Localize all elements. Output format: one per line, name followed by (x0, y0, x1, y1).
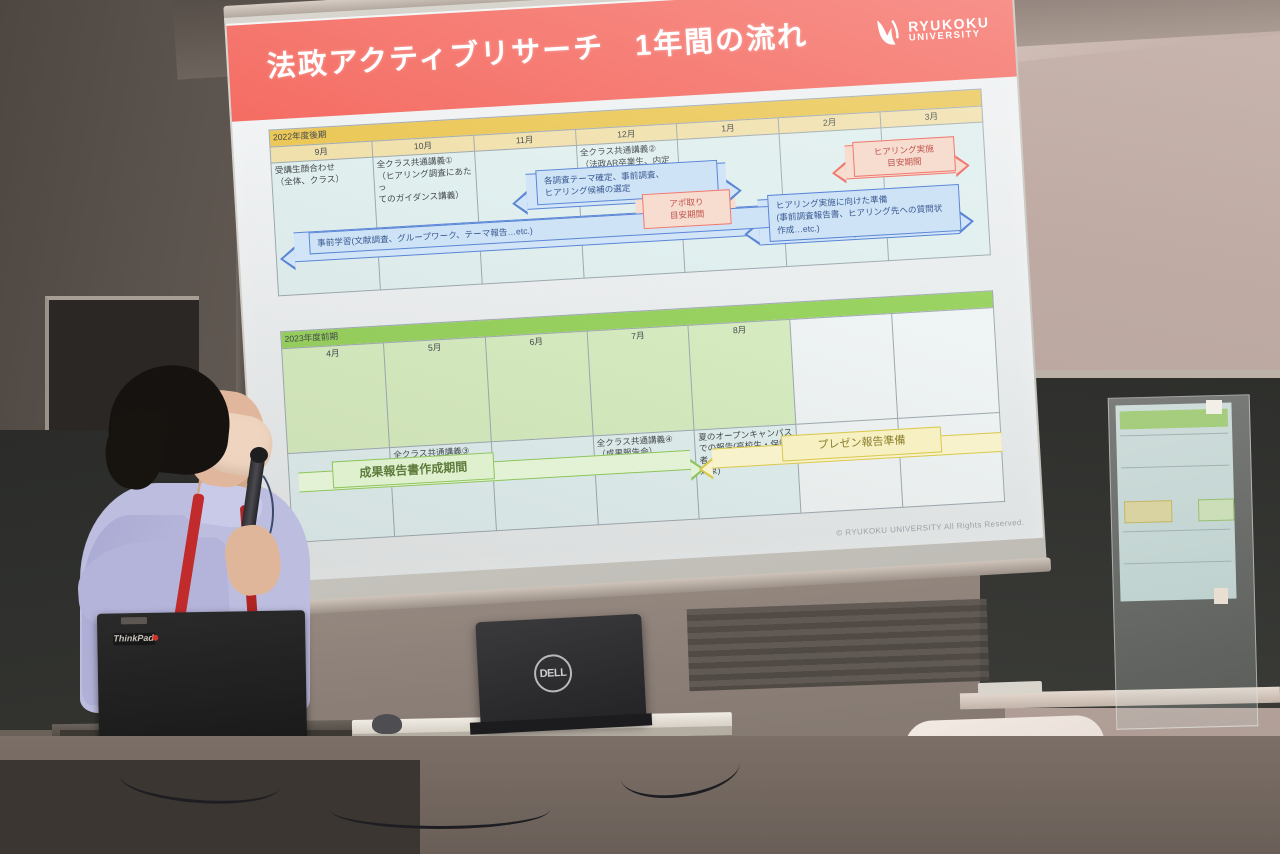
ryukoku-leaf-logo-icon (874, 17, 902, 48)
lecture-room-scene: 法政アクティブリサーチ 1年間の流れ RYUKOKU UNIVERSITY (0, 0, 1280, 854)
table-2023: 2023年度前期 4月 5月 6月 7月 8月 全クラス共通講義③ （中間報告会… (280, 290, 1005, 542)
month-header-4: 8月 (688, 319, 796, 430)
table-cell (491, 435, 598, 530)
panel-clip-top (1206, 400, 1222, 414)
thinkpad-wordmark: ThinkPad (113, 633, 154, 644)
table-cell: 全クラス共通講義④ （成果報告会） (593, 430, 700, 525)
empty-cell (790, 313, 898, 424)
month-header-3: 7月 (587, 325, 695, 436)
month-header-2: 6月 (485, 331, 593, 442)
microphone-head-icon (250, 447, 268, 463)
page-title: 法政アクティブリサーチ 1年間の流れ (266, 12, 809, 85)
computer-mouse[interactable] (372, 714, 402, 734)
reflection-yellow-arrow (1124, 500, 1173, 523)
thinkpad-red-dot-icon (152, 635, 158, 641)
panel-clip-bottom (1214, 588, 1228, 604)
table-cell: 全クラス共通講義① （ヒアリング調査にあたっ てのガイダンス講義） (373, 151, 482, 290)
wall-vent (687, 599, 990, 691)
copyright-notice: © RYUKOKU UNIVERSITY All Rights Reserved… (836, 518, 1024, 538)
logo-wordmark: RYUKOKU UNIVERSITY (908, 15, 991, 43)
panel-projection-reflection (1115, 403, 1236, 602)
university-logo: RYUKOKU UNIVERSITY (874, 12, 991, 49)
remote-control[interactable] (978, 681, 1042, 695)
arrow-label: ヒアリング実施 目安期間 (852, 136, 956, 177)
floor-cable (330, 790, 550, 829)
laptop-hinge-label (121, 617, 147, 624)
table-cell (474, 145, 583, 284)
table-cell: 受講生顔合わせ （全体、クラス） (271, 157, 380, 296)
empty-cell (892, 307, 1000, 418)
laptop-thinkpad[interactable]: ThinkPad (97, 610, 307, 744)
empty-cell (898, 412, 1005, 507)
logo-line2: UNIVERSITY (909, 29, 991, 43)
dell-logo-icon: DELL (533, 653, 573, 693)
month-header-1: 5月 (383, 337, 491, 448)
laptop-dell[interactable]: DELL (475, 614, 646, 731)
reflection-green-arrow (1198, 498, 1235, 521)
arrow-label: アポ取り 目安期間 (642, 189, 732, 229)
